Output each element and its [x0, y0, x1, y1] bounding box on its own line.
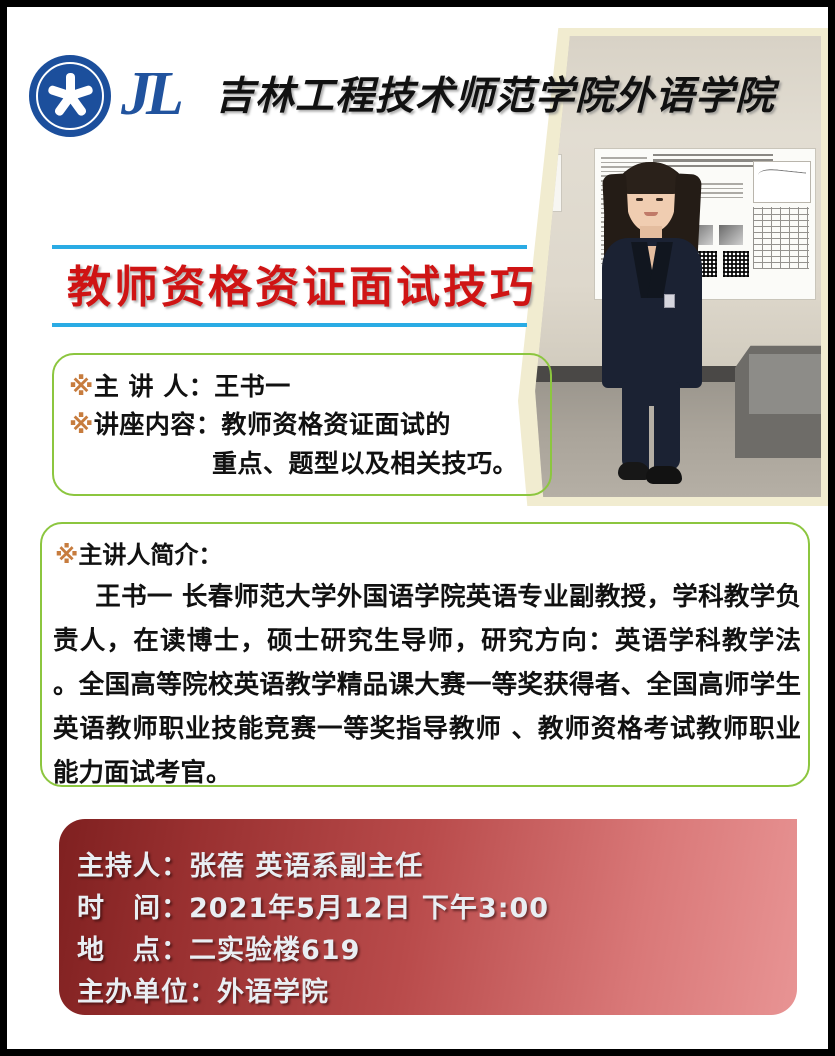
bio-paragraph-text: 王书一 长春师范大学外国语学院英语专业副教授，学科教学负责人，在读博士，硕士研究…: [53, 582, 801, 788]
bio-heading-text: 主讲人简介：: [78, 541, 222, 569]
speaker-presenter-text: 主 讲 人：王书一: [94, 372, 291, 401]
bullet-mark-icon: ※: [55, 541, 78, 569]
poster-header: JL 吉林工程技术师范学院外语学院: [29, 49, 729, 145]
university-seal-icon: [29, 55, 111, 137]
bio-paragraph: 王书一 长春师范大学外国语学院英语专业副教授，学科教学负责人，在读博士，硕士研究…: [53, 575, 801, 795]
poster-title: 教师资格资证面试技巧: [67, 251, 567, 315]
bullet-mark-icon: ※: [69, 372, 94, 401]
speaker-line-presenter: ※主 讲 人：王书一: [69, 367, 291, 403]
speaker-topic-text: 讲座内容：教师资格资证面试的: [94, 410, 451, 439]
title-rule-bottom: [52, 323, 527, 327]
person-figure: [578, 154, 728, 497]
event-time: 时 间：2021年5月12日 下午3:00: [77, 886, 549, 925]
title-rule-top: [52, 245, 527, 249]
research-poster-chart: [753, 161, 811, 203]
poster-root: JL 吉林工程技术师范学院外语学院 教师资格资证面试技巧 ※主 讲 人：王书一 …: [0, 0, 835, 1056]
speaker-line-topic: ※讲座内容：教师资格资证面试的: [69, 405, 451, 441]
jl-logotype-icon: JL: [121, 57, 207, 131]
photo-ledge-top: [749, 354, 821, 414]
bio-heading: ※主讲人简介：: [55, 535, 222, 570]
bullet-mark-icon: ※: [69, 410, 94, 439]
speaker-topic-text-cont: 重点、题型以及相关技巧。: [212, 444, 518, 480]
event-organizer: 主办单位：外语学院: [77, 970, 329, 1009]
event-host: 主持人：张蓓 英语系副主任: [77, 844, 423, 883]
research-poster-table: [753, 207, 809, 269]
institution-name: 吉林工程技术师范学院外语学院: [215, 65, 775, 121]
event-place: 地 点：二实验楼619: [77, 928, 360, 967]
